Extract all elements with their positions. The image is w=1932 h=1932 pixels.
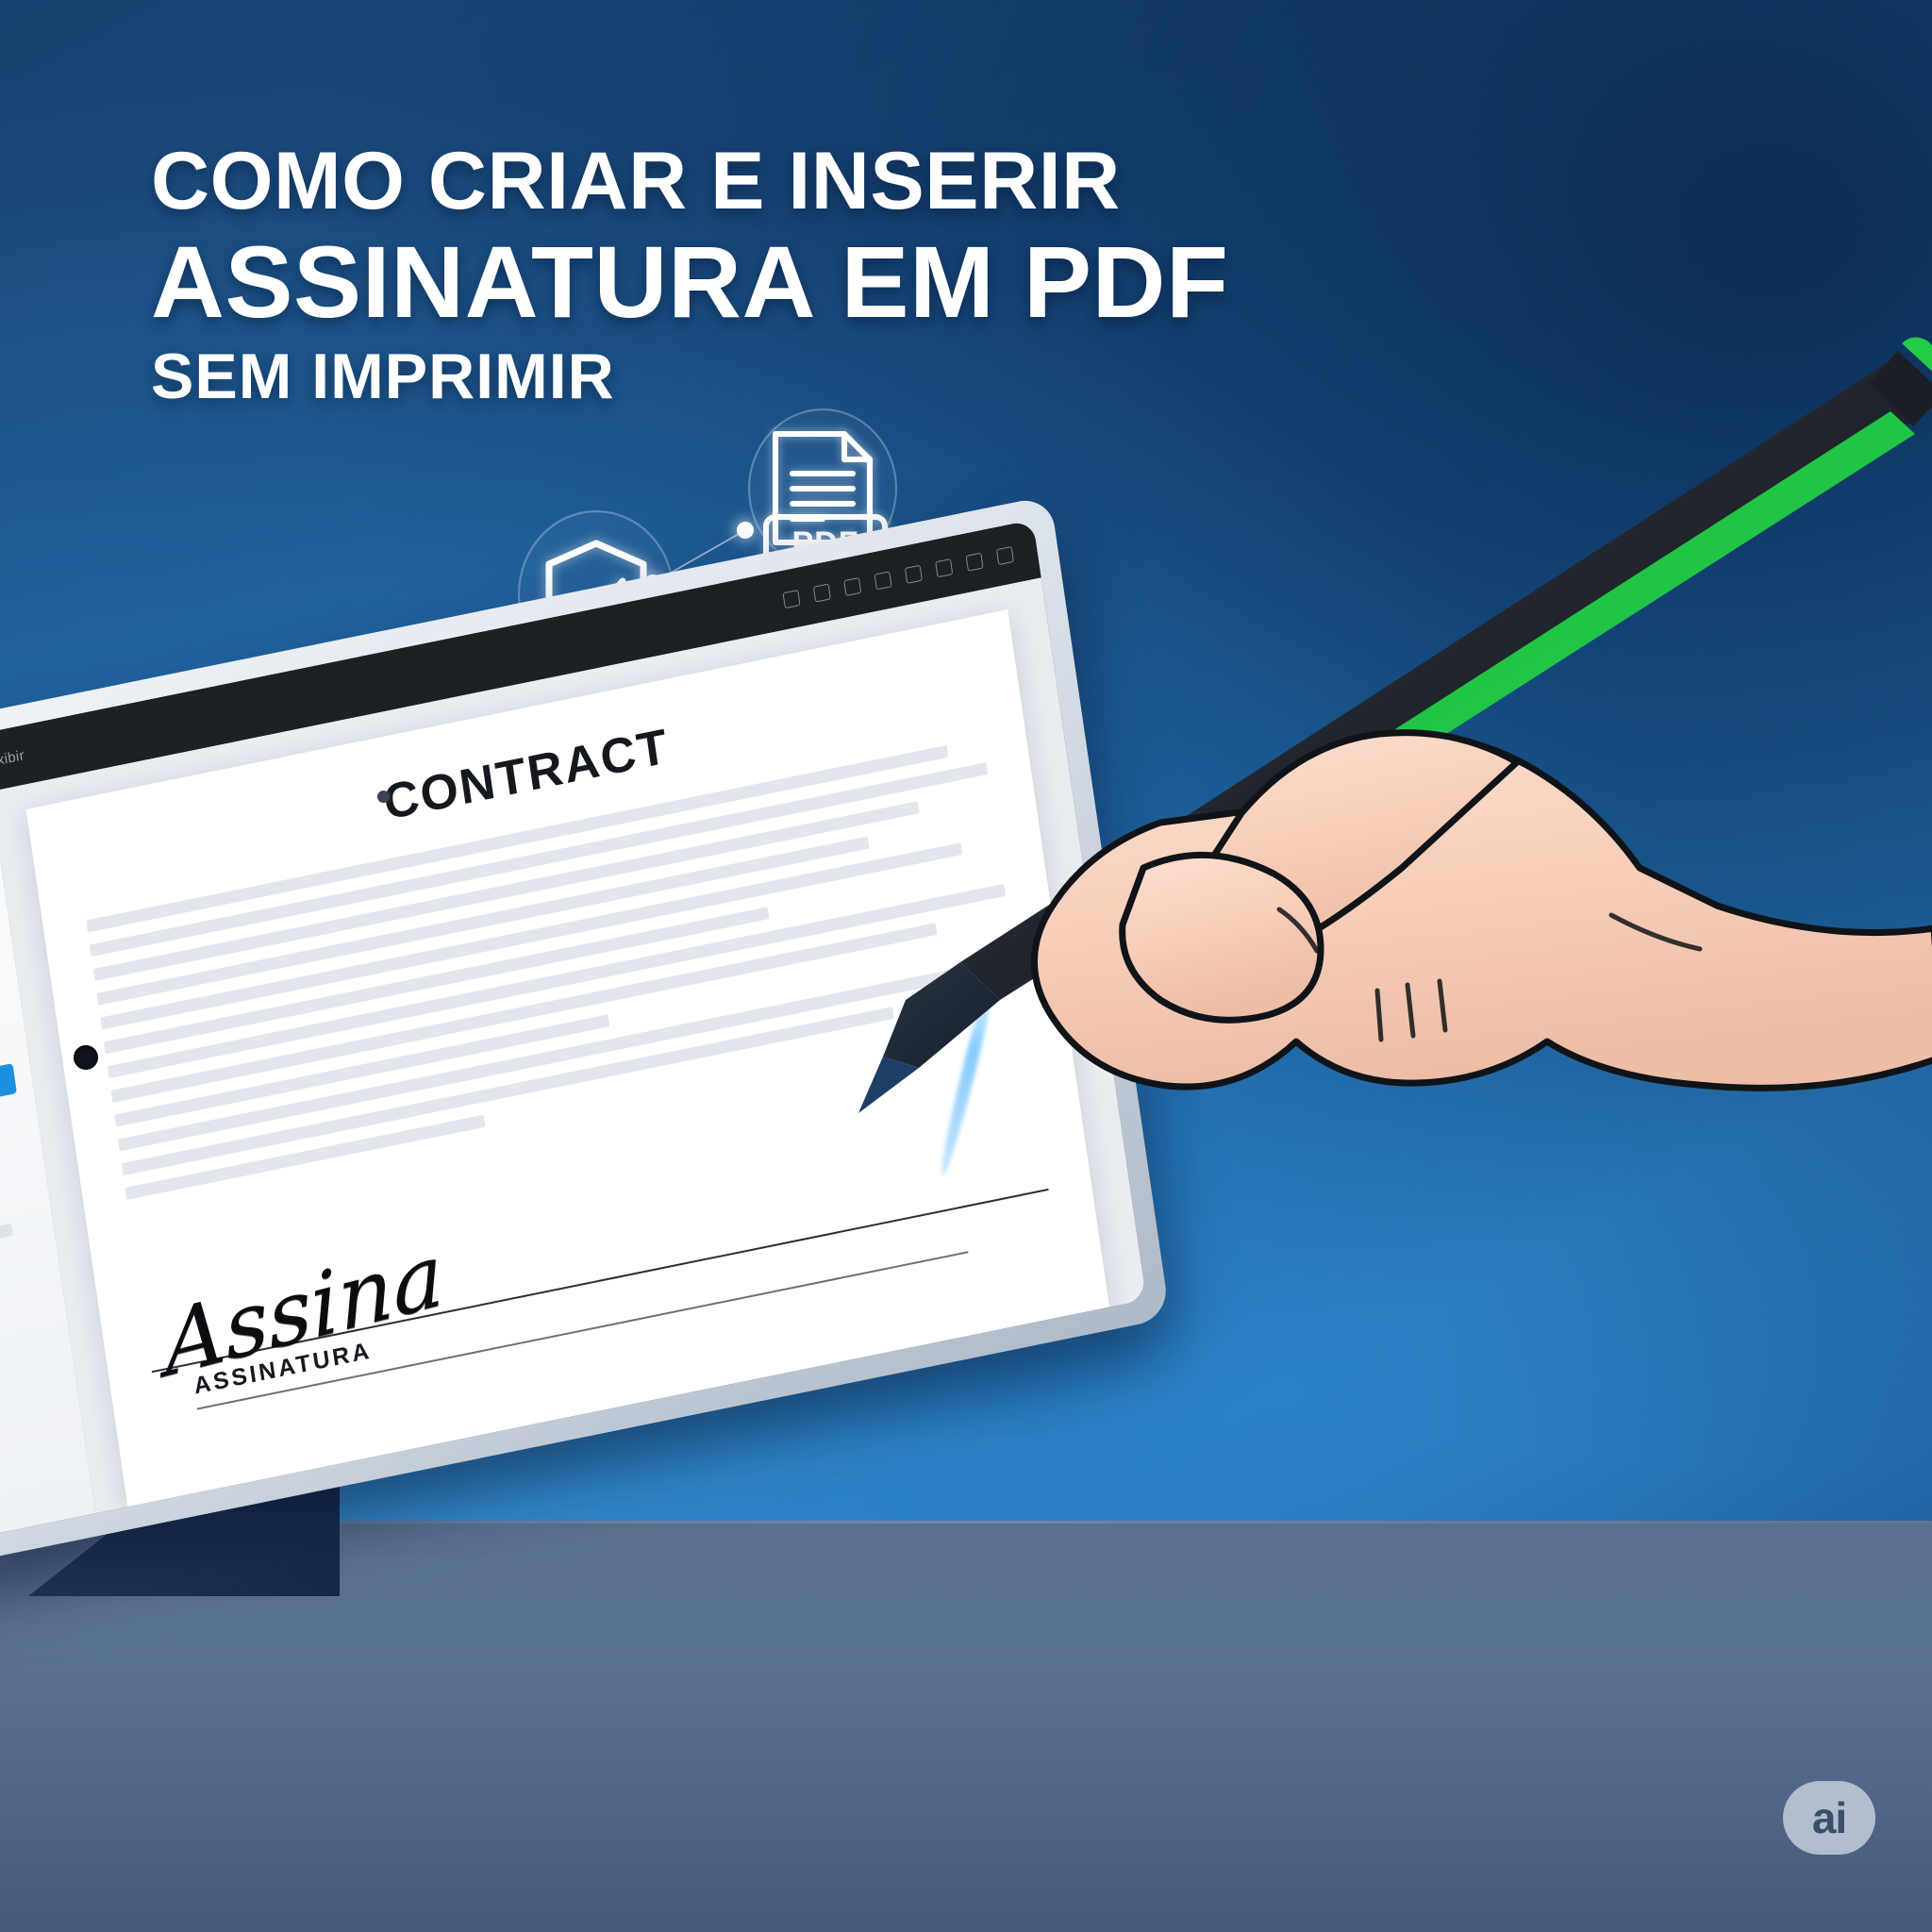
menu-item-exibir[interactable]: Exibir: [0, 747, 25, 771]
ai-logo-text: ai: [1812, 1796, 1846, 1840]
headline-line-2: ASSINATURA EM PDF: [151, 232, 1566, 332]
ai-logo-badge[interactable]: ai: [1783, 1781, 1875, 1855]
poster-canvas: COMO CRIAR E INSERIR ASSINATURA EM PDF S…: [0, 0, 1932, 1932]
stylus-nib: [858, 1057, 919, 1113]
hand-illustration: [1034, 733, 1932, 1089]
headline-line-1: COMO CRIAR E INSERIR: [151, 142, 1566, 221]
sidebar-field-label: Posicionamento: [0, 997, 5, 1058]
tablet-port: [74, 1045, 98, 1070]
sidebar-placeholder-bar: [0, 1224, 12, 1280]
hand-holding-stylus: [717, 340, 1932, 1330]
insert-signature-button[interactable]: INSERIR: [0, 1063, 17, 1142]
tablet-camera: [377, 791, 390, 803]
